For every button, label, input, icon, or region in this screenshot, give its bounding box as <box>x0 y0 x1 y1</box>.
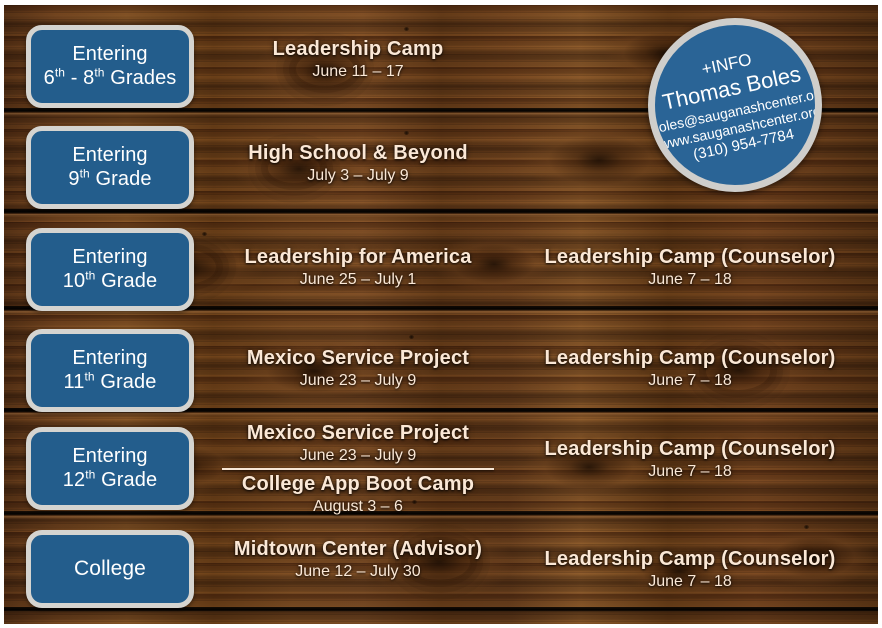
badge-grade-end: Grade <box>90 168 152 190</box>
wood-nail <box>202 232 207 236</box>
wood-nail <box>408 253 413 257</box>
wood-knot <box>234 137 364 201</box>
wood-swirl <box>406 542 472 582</box>
wood-nail <box>412 500 417 504</box>
wood-knot <box>524 435 654 499</box>
wood-nail <box>409 335 414 339</box>
wood-nail <box>804 525 809 529</box>
badge-line-1: Entering <box>72 347 147 371</box>
grade-badge-9[interactable]: Entering 9th Grade <box>26 126 194 209</box>
badge-grade-start: 6 <box>44 67 55 89</box>
wood-knot <box>664 335 814 405</box>
badge-line-2: 6th - 8th Grades <box>44 67 177 91</box>
badge-ordinal-suffix: th <box>55 65 65 79</box>
wood-knot <box>254 35 394 107</box>
badge-grade-end: Grade <box>95 371 157 393</box>
badge-ordinal-suffix-2: th <box>94 65 104 79</box>
wood-swirl <box>704 350 772 392</box>
contact-info-text: +INFO Thomas Boles tboles@sauganashcente… <box>648 36 822 173</box>
contact-info-badge[interactable]: +INFO Thomas Boles tboles@sauganashcente… <box>648 18 822 192</box>
badge-line-2: 11th Grade <box>64 371 157 395</box>
badge-grade-start: 11 <box>64 371 85 393</box>
wood-knot <box>364 525 514 599</box>
plank-seam <box>4 209 878 214</box>
badge-line-1: Entering <box>72 445 147 469</box>
grade-badge-10[interactable]: Entering 10th Grade <box>26 228 194 311</box>
grade-badge-6-8[interactable]: Entering 6th - 8th Grades <box>26 25 194 108</box>
badge-grade-mid: - 8 <box>65 67 94 89</box>
badge-line-2: 12th Grade <box>63 469 157 493</box>
plank-highlight <box>4 311 878 314</box>
badge-line-1: Entering <box>72 144 147 168</box>
wood-knot <box>754 527 874 587</box>
grade-badge-college[interactable]: College <box>26 530 194 608</box>
badge-line-2: 9th Grade <box>68 168 151 192</box>
badge-line-1: College <box>74 557 146 582</box>
badge-line-1: Entering <box>72 246 147 270</box>
plank-highlight <box>4 214 878 217</box>
grade-badge-11[interactable]: Entering 11th Grade <box>26 329 194 412</box>
wood-knot <box>624 545 734 597</box>
wood-swirl <box>266 151 322 185</box>
wood-knot <box>434 235 554 293</box>
badge-line-2: 10th Grade <box>63 270 157 294</box>
badge-grade-end: Grades <box>105 67 177 89</box>
wood-nail <box>404 27 409 31</box>
badge-ordinal-suffix: th <box>85 467 95 481</box>
plank-highlight <box>4 413 878 416</box>
badge-ordinal-suffix: th <box>85 268 95 282</box>
plank-seam <box>4 511 878 516</box>
badge-ordinal-suffix: th <box>80 166 90 180</box>
badge-grade-start: 9 <box>68 168 79 190</box>
program-separator <box>222 468 494 470</box>
wood-knot <box>524 123 674 197</box>
summer-programs-poster: Entering 6th - 8th Grades Leadership Cam… <box>0 0 882 628</box>
plank-highlight <box>4 516 878 519</box>
wood-knot <box>244 339 384 403</box>
badge-grade-end: Grade <box>95 469 157 491</box>
badge-ordinal-suffix: th <box>85 369 95 383</box>
grade-badge-12[interactable]: Entering 12th Grade <box>26 427 194 510</box>
wood-swirl <box>294 50 356 88</box>
badge-grade-start: 10 <box>63 270 85 292</box>
wood-nail <box>404 131 409 135</box>
badge-grade-end: Grade <box>95 270 157 292</box>
badge-line-1: Entering <box>72 43 147 67</box>
badge-grade-start: 12 <box>63 469 85 491</box>
